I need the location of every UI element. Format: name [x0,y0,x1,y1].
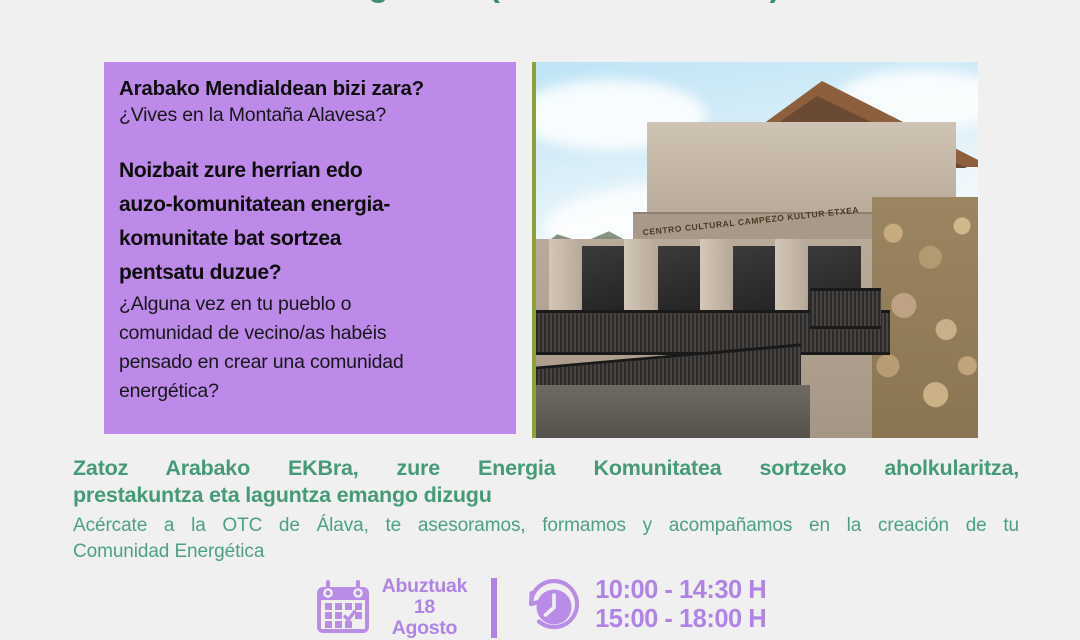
calendar-check-icon [314,580,372,636]
date-day: 18 [382,597,467,618]
photo-railing [810,288,881,329]
card-question-eu-line2: auzo-komunitatean energia- [119,188,494,222]
clock-history-icon [523,576,585,634]
building-photo: CENTRO CULTURAL CAMPEZO KULTUR ETXEA [532,62,978,438]
title-line: energéticas (Oficina de la OTC) [0,0,1080,6]
card-question-eu-line1: Noizbait zure herrian edo [119,154,494,188]
card-question-es-line4: energética? [119,377,494,406]
card-heading-eu: Arabako Mendialdean bizi zara? [119,76,494,102]
poster-page: energéticas (Oficina de la OTC) Arabako … [0,0,1080,640]
photo-ground [536,385,810,438]
vertical-divider [491,578,497,638]
time-info: 10:00 - 14:30 H 15:00 - 18:00 H [523,576,766,634]
time-afternoon: 15:00 - 18:00 H [595,605,766,634]
event-date: Abuztuak 18 Agosto [382,576,467,639]
green-heading-line1: Zatoz Arabako EKBra, zure Energia Komuni… [73,455,1019,482]
card-question-eu-line3: komunitate bat sortzea [119,222,494,256]
green-heading-line2: prestakuntza eta laguntza emango dizugu [73,482,1019,509]
card-spacer [119,128,494,154]
green-sub-line1: Acércate a la OTC de Álava, te asesoramo… [73,513,1019,539]
event-info-bar: Abuztuak 18 Agosto 10:00 - 14:30 H 15:00… [0,574,1080,640]
card-question-es-line3: pensado en crear una comunidad [119,348,494,377]
event-time: 10:00 - 14:30 H 15:00 - 18:00 H [595,576,766,634]
card-question-es-line2: comunidad de vecino/as habéis [119,319,494,348]
green-heading: Zatoz Arabako EKBra, zure Energia Komuni… [73,455,1019,509]
date-info: Abuztuak 18 Agosto [314,576,497,639]
card-question-es-line1: ¿Alguna vez en tu pueblo o [119,290,494,319]
poster-title: energéticas (Oficina de la OTC) [0,0,1080,6]
time-morning: 10:00 - 14:30 H [595,576,766,605]
card-question-eu-line4: pentsatu duzue? [119,256,494,290]
date-month-eu: Abuztuak [382,575,467,597]
date-month-es: Agosto [382,618,467,639]
purple-info-card: Arabako Mendialdean bizi zara? ¿Vives en… [104,62,516,434]
card-heading-es: ¿Vives en la Montaña Alavesa? [119,102,494,128]
green-sub-line2: Comunidad Energética [73,541,264,562]
green-subtext: Acércate a la OTC de Álava, te asesoramo… [73,513,1019,565]
green-text-block: Zatoz Arabako EKBra, zure Energia Komuni… [73,455,1019,565]
